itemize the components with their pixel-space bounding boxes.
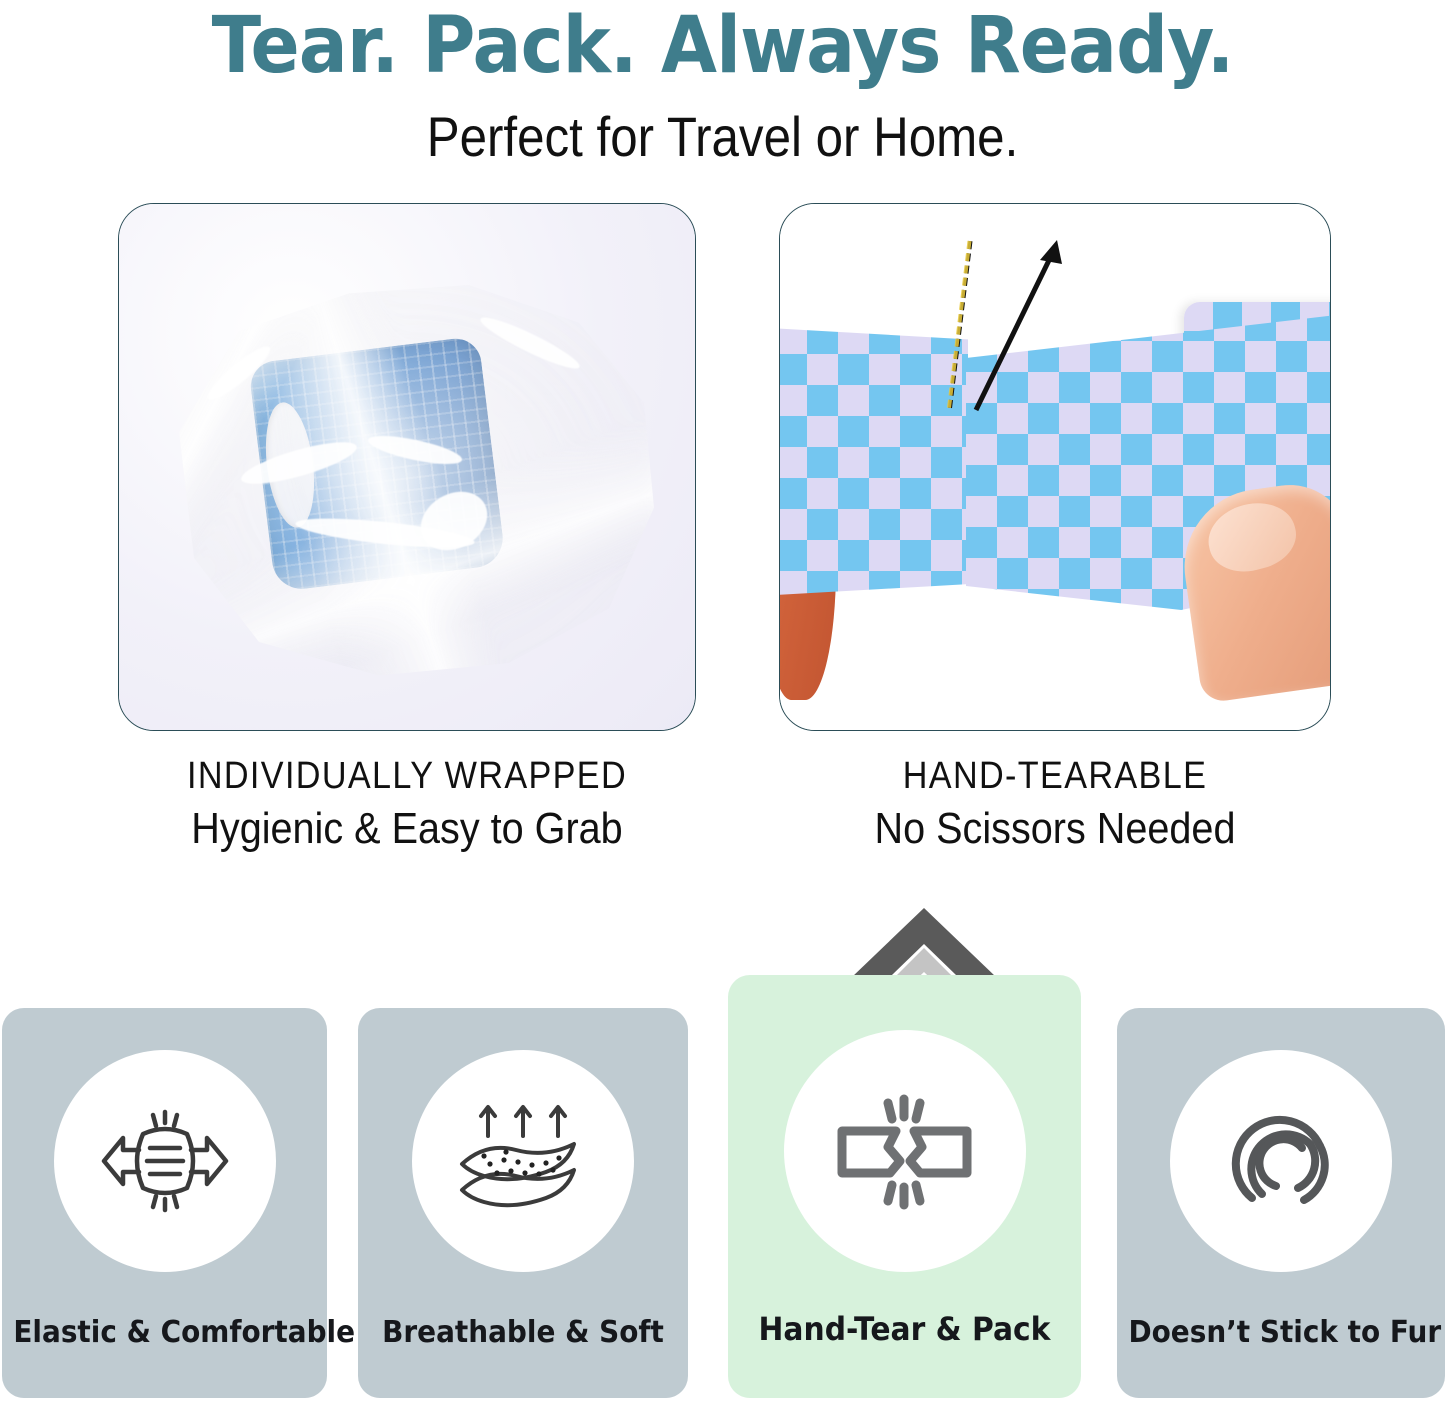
caption-subtitle: Hygienic & Easy to Grab — [147, 800, 667, 858]
caption-subtitle: No Scissors Needed — [807, 800, 1304, 858]
feature-card-label: Elastic & Comfortable — [13, 1315, 315, 1350]
icon-badge — [54, 1050, 276, 1272]
feature-card-elastic-comfortable[interactable]: Elastic & Comfortable — [2, 1008, 327, 1398]
icon-badge — [784, 1030, 1026, 1272]
caption-hand-tearable: HAND-TEARABLE No Scissors Needed — [779, 752, 1331, 858]
icon-badge — [412, 1050, 634, 1272]
photo-hand-tearing-bandage — [780, 204, 1330, 730]
caption-title: INDIVIDUALLY WRAPPED — [147, 752, 667, 800]
icon-badge — [1170, 1050, 1392, 1272]
caption-individually-wrapped: INDIVIDUALLY WRAPPED Hygienic & Easy to … — [118, 752, 696, 858]
feature-card-label: Breathable & Soft — [370, 1315, 677, 1350]
torn-tape-icon — [822, 1069, 987, 1234]
feature-card-hand-tear-pack[interactable]: Hand-Tear & Pack — [728, 975, 1081, 1398]
page-subhead: Perfect for Travel or Home. — [87, 104, 1359, 170]
feature-card-breathable-soft[interactable]: Breathable & Soft — [358, 1008, 688, 1398]
caption-title: HAND-TEARABLE — [807, 752, 1304, 800]
panel-individually-wrapped — [118, 203, 696, 731]
page-headline: Tear. Pack. Always Ready. — [51, 0, 1395, 92]
tear-direction-arrow-icon — [958, 234, 1078, 414]
photo-wrapped-bandage-roll — [119, 204, 695, 730]
feature-card-label: Hand-Tear & Pack — [740, 1310, 1068, 1348]
tape-strip-left — [779, 323, 968, 595]
breathable-fabric-arrows-icon — [446, 1086, 601, 1236]
panel-hand-tearable — [779, 203, 1331, 731]
stretch-arrows-icon — [90, 1086, 240, 1236]
fur-swirl-icon — [1206, 1086, 1356, 1236]
feature-card-doesnt-stick-to-fur[interactable]: Doesn’t Stick to Fur — [1117, 1008, 1445, 1398]
feature-card-label: Doesn’t Stick to Fur — [1128, 1315, 1433, 1350]
